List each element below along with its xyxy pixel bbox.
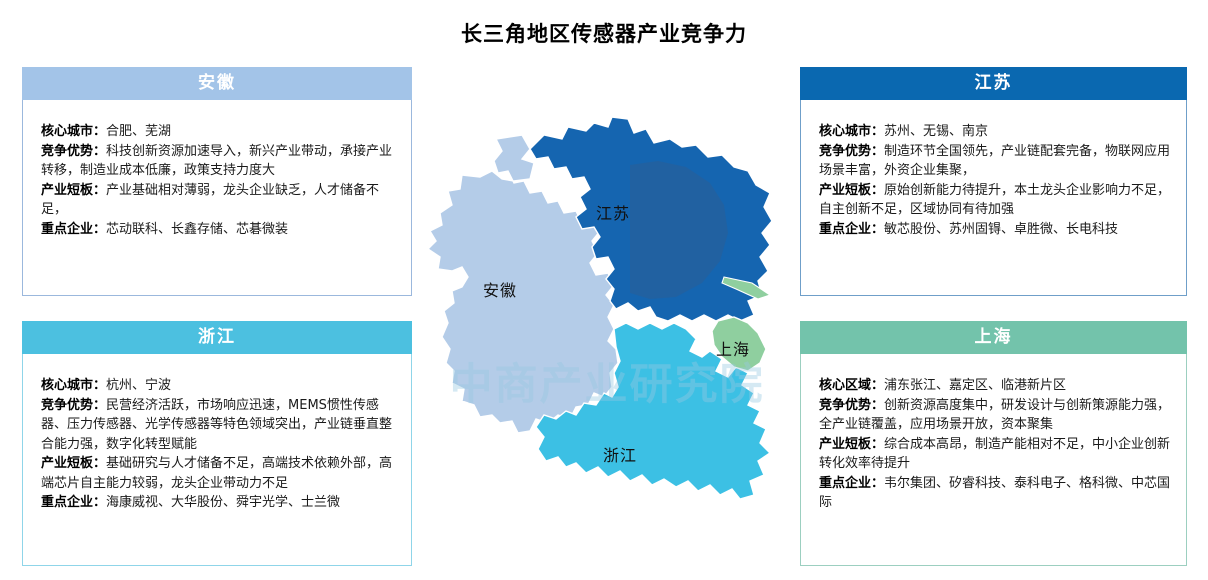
panel-jiangsu-row-2: 产业短板：原始创新能力待提升，本土龙头企业影响力不足，自主创新不足，区域协同有待… (819, 181, 1172, 220)
panel-anhui-row-3-text: 芯动联科、长鑫存储、芯碁微装 (106, 222, 288, 237)
panel-jiangsu-row-0-text: 苏州、无锡、南京 (884, 124, 988, 139)
panel-shanghai-row-2: 产业短板：综合成本高昂，制造产能相对不足，中小企业创新转化效率待提升 (819, 435, 1172, 474)
panel-zhejiang-row-3-label: 重点企业： (41, 495, 106, 510)
panel-zhejiang-row-2: 产业短板：基础研究与人才储备不足，高端技术依赖外部，高端芯片自主能力较弱，龙头企… (41, 454, 397, 493)
panel-anhui-row-2: 产业短板：产业基础相对薄弱，龙头企业缺乏，人才储备不足， (41, 181, 397, 220)
panel-jiangsu-row-3-label: 重点企业： (819, 222, 884, 237)
panel-anhui-row-0-label: 核心城市： (41, 124, 106, 139)
panel-anhui-row-1: 竞争优势：科技创新资源加速导入，新兴产业带动，承接产业转移，制造业成本低廉，政策… (41, 142, 397, 181)
panel-anhui-row-3-label: 重点企业： (41, 222, 106, 237)
panel-anhui-row-1-label: 竞争优势： (41, 144, 106, 159)
panel-anhui: 安徽 核心城市：合肥、芜湖 竞争优势：科技创新资源加速导入，新兴产业带动，承接产… (22, 67, 412, 296)
panel-anhui-header: 安徽 (22, 67, 412, 100)
panel-jiangsu-body: 核心城市：苏州、无锡、南京 竞争优势：制造环节全国领先，产业链配套完备，物联网应… (800, 100, 1187, 296)
panel-anhui-row-0-text: 合肥、芜湖 (106, 124, 171, 139)
panel-zhejiang-row-0-label: 核心城市： (41, 378, 106, 393)
map-svg (418, 105, 796, 550)
panel-jiangsu-row-3-text: 敏芯股份、苏州固锝、卓胜微、长电科技 (884, 222, 1118, 237)
panel-jiangsu-row-0: 核心城市：苏州、无锡、南京 (819, 122, 1172, 142)
panel-anhui-row-3: 重点企业：芯动联科、长鑫存储、芯碁微装 (41, 220, 397, 240)
panel-zhejiang-row-3-text: 海康威视、大华股份、舜宇光学、士兰微 (106, 495, 340, 510)
panel-shanghai-body: 核心区域：浦东张江、嘉定区、临港新片区 竞争优势：创新资源高度集中，研发设计与创… (800, 354, 1187, 566)
panel-zhejiang-body: 核心城市：杭州、宁波 竞争优势：民营经济活跃，市场响应迅速，MEMS惯性传感器、… (22, 354, 412, 566)
panel-anhui-row-2-label: 产业短板： (41, 183, 106, 198)
panel-anhui-body: 核心城市：合肥、芜湖 竞争优势：科技创新资源加速导入，新兴产业带动，承接产业转移… (22, 100, 412, 296)
panel-zhejiang-row-2-label: 产业短板： (41, 456, 106, 471)
panel-shanghai-row-0-text: 浦东张江、嘉定区、临港新片区 (884, 378, 1066, 393)
panel-jiangsu-row-1-label: 竞争优势： (819, 144, 884, 159)
panel-jiangsu-row-3: 重点企业：敏芯股份、苏州固锝、卓胜微、长电科技 (819, 220, 1172, 240)
panel-shanghai-row-2-label: 产业短板： (819, 437, 884, 452)
panel-zhejiang-row-0: 核心城市：杭州、宁波 (41, 376, 397, 396)
panel-shanghai-row-0: 核心区域：浦东张江、嘉定区、临港新片区 (819, 376, 1172, 396)
panel-zhejiang: 浙江 核心城市：杭州、宁波 竞争优势：民营经济活跃，市场响应迅速，MEMS惯性传… (22, 321, 412, 566)
panel-jiangsu-row-1: 竞争优势：制造环节全国领先，产业链配套完备，物联网应用场景丰富，外资企业集聚， (819, 142, 1172, 181)
yangtze-delta-map: 中商产业研究院 江苏 安徽 上海 浙江 (418, 105, 796, 550)
panel-jiangsu-header: 江苏 (800, 67, 1187, 100)
panel-zhejiang-row-1-label: 竞争优势： (41, 398, 106, 413)
panel-zhejiang-row-3: 重点企业：海康威视、大华股份、舜宇光学、士兰微 (41, 493, 397, 513)
panel-jiangsu-row-2-label: 产业短板： (819, 183, 884, 198)
panel-shanghai-row-3: 重点企业：韦尔集团、矽睿科技、泰科电子、格科微、中芯国际 (819, 474, 1172, 513)
panel-jiangsu: 江苏 核心城市：苏州、无锡、南京 竞争优势：制造环节全国领先，产业链配套完备，物… (800, 67, 1187, 296)
panel-shanghai-header: 上海 (800, 321, 1187, 354)
panel-shanghai-row-3-label: 重点企业： (819, 476, 884, 491)
panel-anhui-row-0: 核心城市：合肥、芜湖 (41, 122, 397, 142)
panel-zhejiang-header: 浙江 (22, 321, 412, 354)
panel-shanghai-row-1: 竞争优势：创新资源高度集中，研发设计与创新策源能力强，全产业链覆盖，应用场景开放… (819, 396, 1172, 435)
panel-jiangsu-row-0-label: 核心城市： (819, 124, 884, 139)
panel-shanghai: 上海 核心区域：浦东张江、嘉定区、临港新片区 竞争优势：创新资源高度集中，研发设… (800, 321, 1187, 566)
panel-shanghai-row-0-label: 核心区域： (819, 378, 884, 393)
page-title: 长三角地区传感器产业竞争力 (0, 18, 1208, 48)
panel-zhejiang-row-1: 竞争优势：民营经济活跃，市场响应迅速，MEMS惯性传感器、压力传感器、光学传感器… (41, 396, 397, 455)
panel-zhejiang-row-0-text: 杭州、宁波 (106, 378, 171, 393)
panel-shanghai-row-1-label: 竞争优势： (819, 398, 884, 413)
